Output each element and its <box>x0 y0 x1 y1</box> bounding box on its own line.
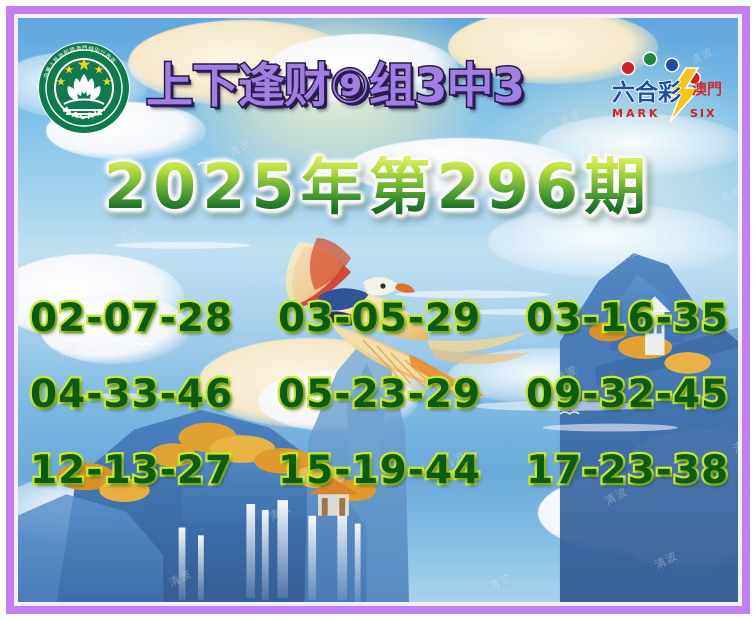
logo-en-text-2: SIX <box>690 107 717 120</box>
poster-canvas: 清波 清波 清波 清波 清波 清波 清波 清波 清波 清波 清波 清波 清波 清… <box>18 18 738 602</box>
number-grid: 02-07-28 03-05-29 03-16-35 04-33-46 05-2… <box>18 280 738 508</box>
watermark-text: 清波 <box>612 243 641 268</box>
title-text: 上下逢财⑨组3中3 <box>146 63 524 110</box>
number-cell: 12-13-27 <box>30 451 230 490</box>
issue-title: 2025年第296期 <box>18 156 738 218</box>
poster-outer-border: 清波 清波 清波 清波 清波 清波 清波 清波 清波 清波 清波 清波 清波 清… <box>6 6 750 614</box>
watermark-text: 清波 <box>166 565 195 590</box>
macau-sar-emblem: 中華人民共和國澳門特別行政區 MACAU <box>36 40 132 136</box>
ball-red <box>622 62 634 74</box>
mark-six-logo: 六合彩 MARK SIX 澳門 <box>606 38 728 126</box>
number-row: 02-07-28 03-05-29 03-16-35 <box>18 280 738 356</box>
logo-region-text: 澳門 <box>692 80 722 98</box>
number-row: 12-13-27 15-19-44 17-23-38 <box>18 432 738 508</box>
number-cell: 09-32-45 <box>526 375 726 414</box>
ball-blue <box>666 59 678 71</box>
number-cell: 05-23-29 <box>278 375 478 414</box>
number-cell: 15-19-44 <box>278 451 478 490</box>
number-cell: 03-05-29 <box>278 299 478 338</box>
number-cell: 03-16-35 <box>526 299 726 338</box>
logo-en-text: MARK <box>612 107 660 120</box>
logo-cn-text: 六合彩 <box>612 79 681 106</box>
poster-header: 中華人民共和國澳門特別行政區 MACAU <box>18 18 738 130</box>
number-row: 04-33-46 05-23-29 09-32-45 <box>18 356 738 432</box>
number-cell: 04-33-46 <box>30 375 230 414</box>
watermark-text: 清波 <box>116 221 145 246</box>
page-title: 上下逢财⑨组3中3 <box>146 54 656 118</box>
ball-green <box>644 53 656 65</box>
lottery-poster: 清波 清波 清波 清波 清波 清波 清波 清波 清波 清波 清波 清波 清波 清… <box>0 0 756 620</box>
poster-inner-border: 清波 清波 清波 清波 清波 清波 清波 清波 清波 清波 清波 清波 清波 清… <box>14 14 742 606</box>
watermark-text: 清波 <box>486 569 515 594</box>
number-cell: 17-23-38 <box>526 451 726 490</box>
watermark-text: 清波 <box>652 547 681 572</box>
number-cell: 02-07-28 <box>30 299 230 338</box>
